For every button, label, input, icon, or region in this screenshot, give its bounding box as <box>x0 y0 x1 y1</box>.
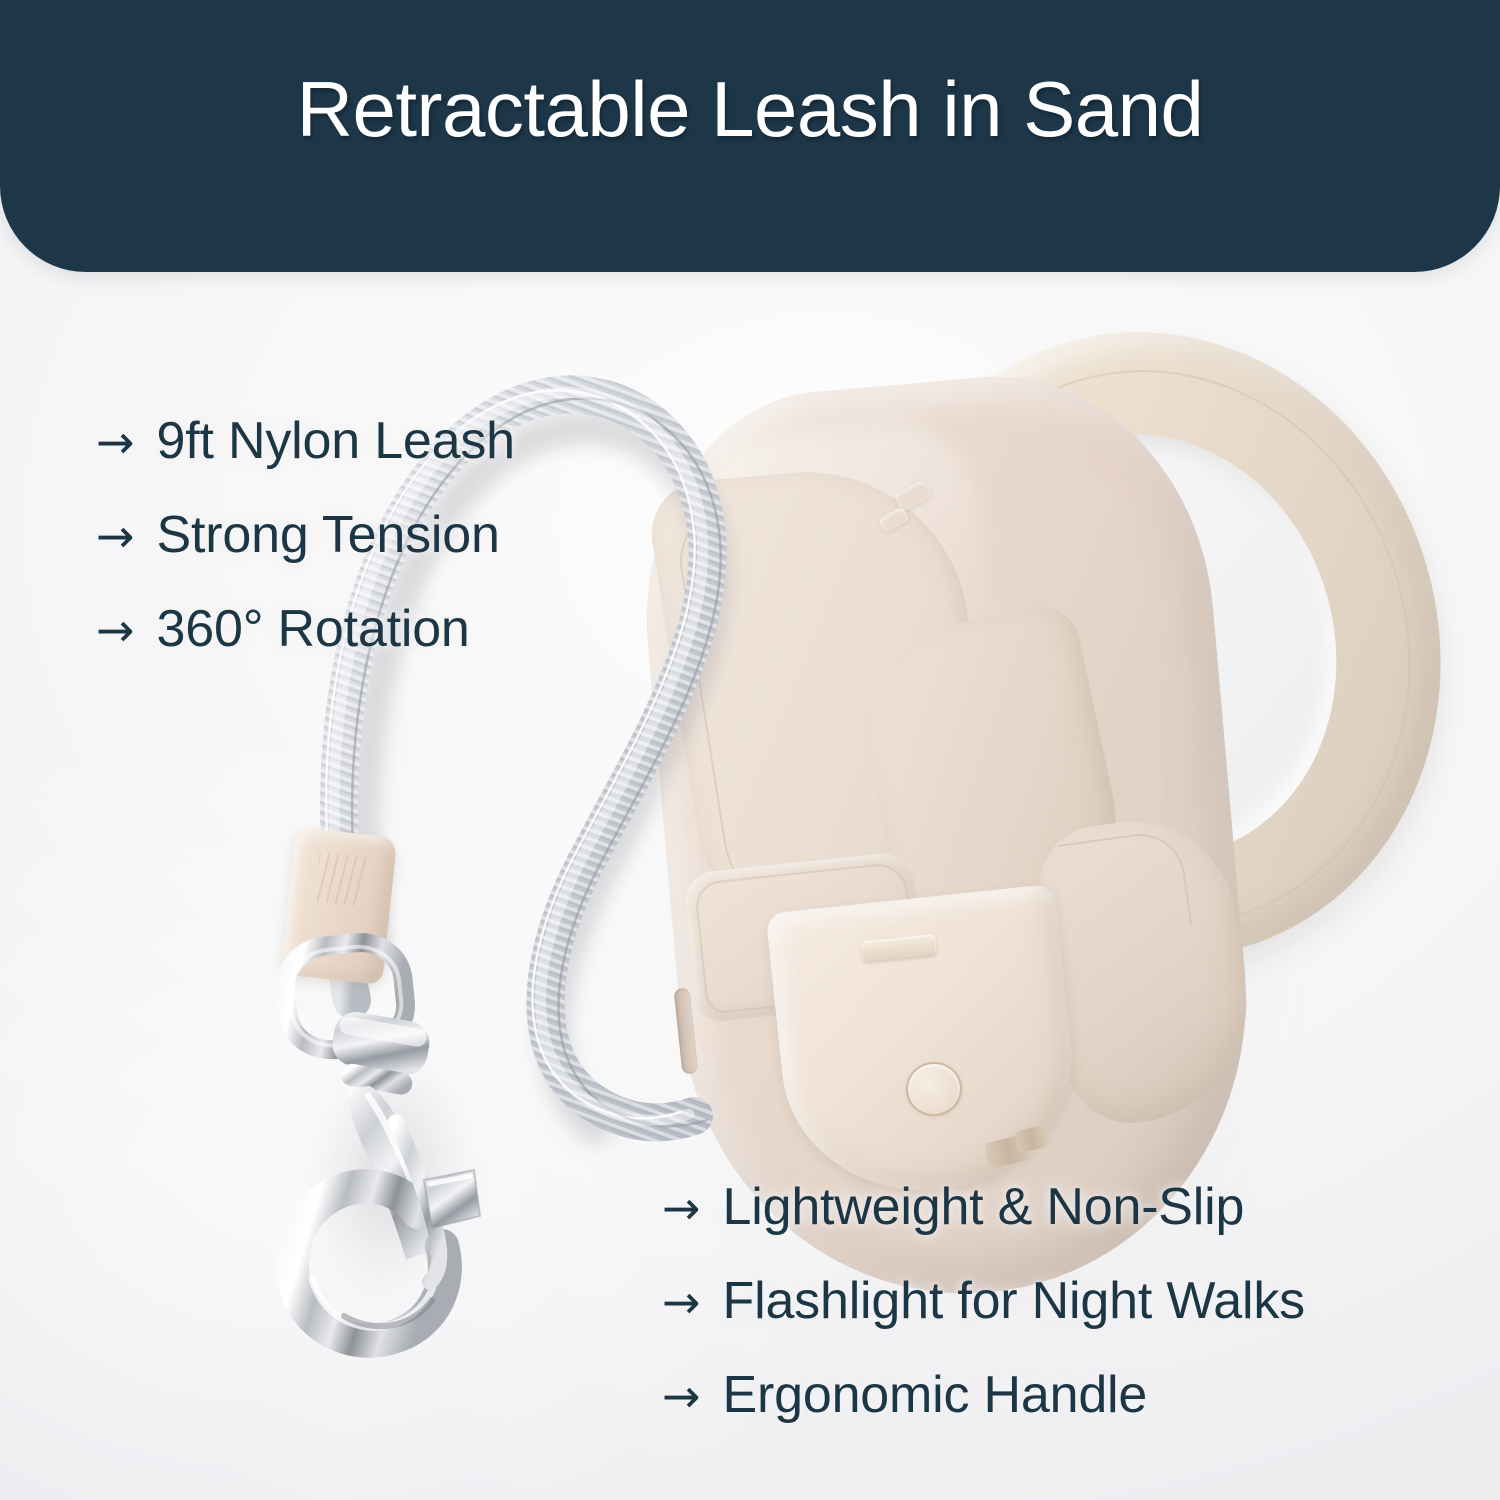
arrow-right-icon: → <box>662 1279 701 1325</box>
feature-label: 9ft Nylon Leash <box>157 412 515 470</box>
feature-item: → Lightweight & Non-Slip <box>662 1178 1305 1236</box>
feature-label: 360° Rotation <box>157 600 470 658</box>
arrow-right-icon: → <box>662 1185 701 1231</box>
arrow-right-icon: → <box>96 513 135 559</box>
feature-item: → Strong Tension <box>96 506 515 564</box>
feature-label: Ergonomic Handle <box>723 1366 1148 1424</box>
product-feature-image: Retractable Leash in Sand → 9ft Nylon Le… <box>0 0 1500 1500</box>
feature-list-bottom-right: → Lightweight & Non-Slip → Flashlight fo… <box>662 1178 1305 1425</box>
header-banner: Retractable Leash in Sand <box>0 0 1500 272</box>
feature-item: → 9ft Nylon Leash <box>96 412 515 470</box>
feature-label: Flashlight for Night Walks <box>723 1272 1305 1330</box>
feature-label: Strong Tension <box>157 506 500 564</box>
arrow-right-icon: → <box>662 1373 701 1419</box>
arrow-right-icon: → <box>96 419 135 465</box>
feature-label: Lightweight & Non-Slip <box>723 1178 1245 1236</box>
sleeve-grip-ribs <box>314 852 367 907</box>
swivel-snap-hook <box>228 930 528 1360</box>
feature-item: → Ergonomic Handle <box>662 1366 1305 1424</box>
feature-item: → 360° Rotation <box>96 600 515 658</box>
feature-list-top-left: → 9ft Nylon Leash → Strong Tension → 360… <box>96 412 515 659</box>
page-title: Retractable Leash in Sand <box>0 70 1500 148</box>
feature-item: → Flashlight for Night Walks <box>662 1272 1305 1330</box>
arrow-right-icon: → <box>96 607 135 653</box>
